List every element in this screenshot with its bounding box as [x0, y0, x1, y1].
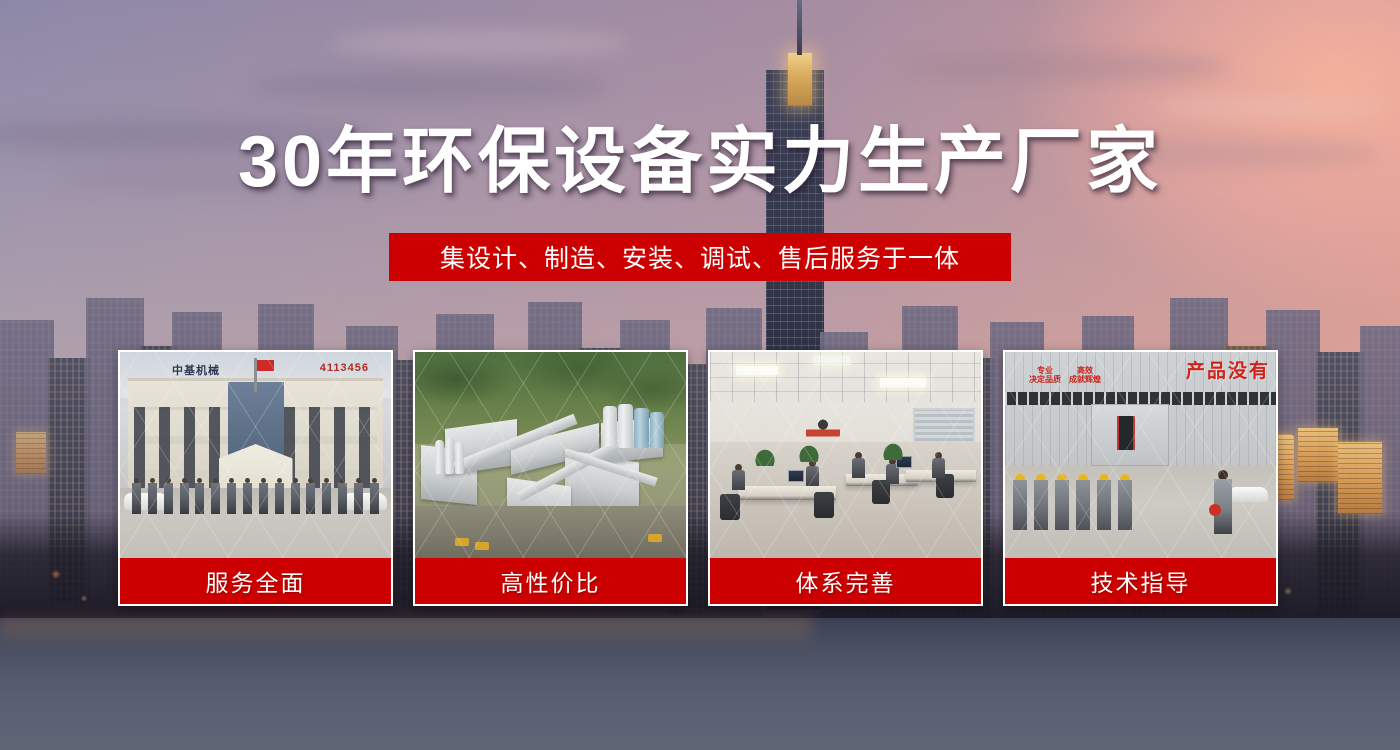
red-helmet-icon	[1209, 504, 1221, 516]
worker-body	[1034, 480, 1048, 530]
illuminated-building	[1338, 442, 1382, 514]
company-sign-text: 中基机械	[172, 362, 220, 378]
slogan-mid: 高效 成就辉煌	[1069, 366, 1101, 384]
storage-silo	[445, 438, 454, 474]
worker-body	[1013, 480, 1027, 530]
subtitle-banner: 集设计、制造、安装、调试、售后服务于一体	[389, 233, 1011, 281]
slogan-mid-sub: 成就辉煌	[1069, 375, 1101, 384]
worker-with-hardhat	[1076, 474, 1090, 530]
plant-yard	[415, 506, 686, 558]
staff-lineup	[132, 472, 379, 514]
illuminated-building	[16, 432, 46, 474]
feature-card[interactable]: 中基机械 4113456	[118, 350, 393, 606]
tower-crown-lights	[788, 53, 812, 105]
staff-member	[259, 478, 268, 514]
feature-card[interactable]: 体系完善	[708, 350, 983, 606]
staff-member	[164, 478, 173, 514]
office-chair	[814, 492, 834, 518]
staff-member	[195, 478, 204, 514]
card-caption: 服务全面	[120, 558, 391, 604]
storage-silo	[634, 408, 649, 448]
ceiling-light	[736, 366, 778, 375]
excavator	[455, 538, 469, 546]
tower-spire	[797, 0, 802, 55]
staff-member	[322, 478, 331, 514]
river-water	[0, 618, 1400, 750]
supervisor	[1214, 470, 1232, 534]
ceiling-light	[814, 356, 850, 365]
card-photo-industrial-plant	[415, 352, 686, 558]
feature-card-list: 中基机械 4113456	[118, 350, 1278, 606]
staff-member	[306, 478, 315, 514]
feature-card[interactable]: 产品没有 专业 决定品质 高效 成就辉煌	[1003, 350, 1278, 606]
worker-body	[1076, 480, 1090, 530]
staff-member	[370, 478, 379, 514]
phone-sign-text: 4113456	[320, 362, 369, 374]
storage-silo	[650, 412, 664, 448]
worker-with-hardhat	[1013, 474, 1027, 530]
slogan-left-title: 专业	[1029, 366, 1061, 375]
storage-silo	[435, 440, 444, 474]
ceiling-light	[880, 378, 926, 387]
worker-with-hardhat	[1097, 474, 1111, 530]
staff-member	[180, 478, 189, 514]
card-photo-office-building: 中基机械 4113456	[120, 352, 391, 558]
staff-member	[338, 478, 347, 514]
excavator	[475, 542, 489, 550]
card-caption: 技术指导	[1005, 558, 1276, 604]
staff-member	[275, 478, 284, 514]
potted-plant	[754, 448, 776, 466]
flag-icon	[254, 358, 257, 392]
staff-member	[291, 478, 300, 514]
worker-body	[1097, 480, 1111, 530]
illuminated-building	[1298, 428, 1338, 482]
feature-card[interactable]: 高性价比	[413, 350, 688, 606]
worker-body	[1055, 480, 1069, 530]
worker-body	[1118, 480, 1132, 530]
computer-monitor	[788, 470, 804, 482]
worker-with-hardhat	[1034, 474, 1048, 530]
potted-plant	[882, 442, 904, 460]
office-worker	[932, 452, 945, 478]
factory-side-door	[1117, 416, 1135, 450]
card-photo-office-interior	[710, 352, 981, 558]
storage-silo	[618, 404, 633, 448]
staff-member	[148, 478, 157, 514]
worker-lineup	[1013, 474, 1132, 530]
staff-member	[227, 478, 236, 514]
promo-banner: 30年环保设备实力生产厂家 集设计、制造、安装、调试、售后服务于一体 中基机械 …	[0, 0, 1400, 750]
slogan-mid-title: 高效	[1069, 366, 1101, 375]
storage-silo	[455, 442, 464, 474]
worker-with-hardhat	[1055, 474, 1069, 530]
excavator	[648, 534, 662, 542]
staff-member	[243, 478, 252, 514]
office-chair	[720, 494, 740, 520]
slogan-left: 专业 决定品质	[1029, 366, 1061, 384]
staff-member	[211, 478, 220, 514]
parked-car	[1230, 487, 1268, 502]
office-worker	[732, 464, 745, 490]
card-caption: 高性价比	[415, 558, 686, 604]
staff-member	[354, 478, 363, 514]
worker-with-hardhat	[1118, 474, 1132, 530]
card-photo-factory-workers: 产品没有 专业 决定品质 高效 成就辉煌	[1005, 352, 1276, 558]
office-worker	[852, 452, 865, 478]
subtitle-text: 集设计、制造、安装、调试、售后服务于一体	[440, 239, 960, 275]
factory-sign-text: 产品没有	[1186, 356, 1270, 383]
storage-silo	[603, 406, 617, 446]
potted-plant	[798, 444, 820, 462]
office-worker	[806, 460, 819, 486]
card-caption: 体系完善	[710, 558, 981, 604]
staff-member	[132, 478, 141, 514]
slogan-left-sub: 决定品质	[1029, 375, 1061, 384]
page-title: 30年环保设备实力生产厂家	[0, 126, 1400, 198]
